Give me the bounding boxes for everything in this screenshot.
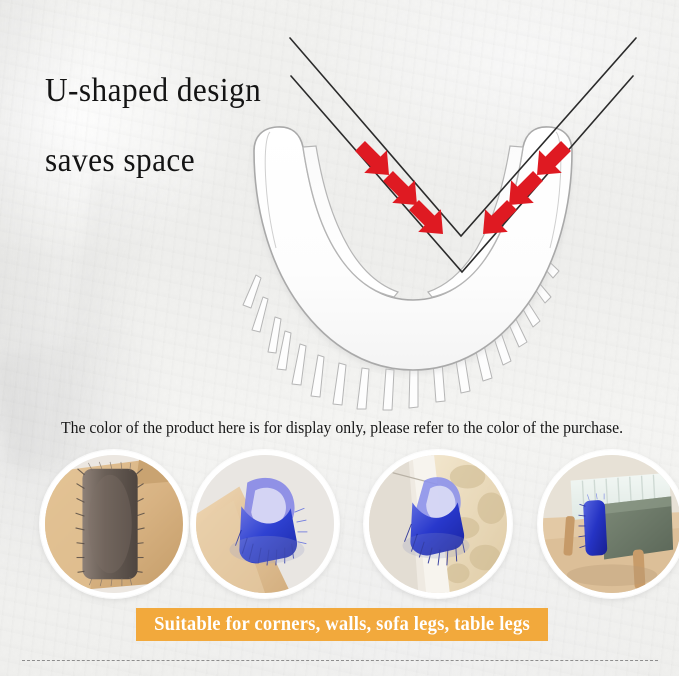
photo-wall-blue-brush <box>196 455 334 593</box>
u-shape-illustration <box>0 0 679 420</box>
product-photo-2 <box>191 450 339 598</box>
suitability-banner: Suitable for corners, walls, sofa legs, … <box>136 608 548 641</box>
suitability-banner-label: Suitable for corners, walls, sofa legs, … <box>154 613 530 636</box>
photo-wall-corner-blue-brush <box>369 455 507 593</box>
product-photo-4 <box>538 450 679 598</box>
product-photo-1 <box>40 450 188 598</box>
photo-corner-wall-gray-brush <box>45 455 183 593</box>
product-photo-3 <box>364 450 512 598</box>
color-disclaimer-text: The color of the product here is for dis… <box>61 418 623 438</box>
v-guide-line-outer <box>290 38 636 236</box>
infographic-page: U-shaped design saves space The color of… <box>0 0 679 676</box>
dashed-divider <box>22 660 658 661</box>
headline-line-1: U-shaped design <box>45 72 261 110</box>
headline-line-2: saves space <box>45 142 195 180</box>
photo-sofa-leg-blue-brush <box>543 455 679 593</box>
